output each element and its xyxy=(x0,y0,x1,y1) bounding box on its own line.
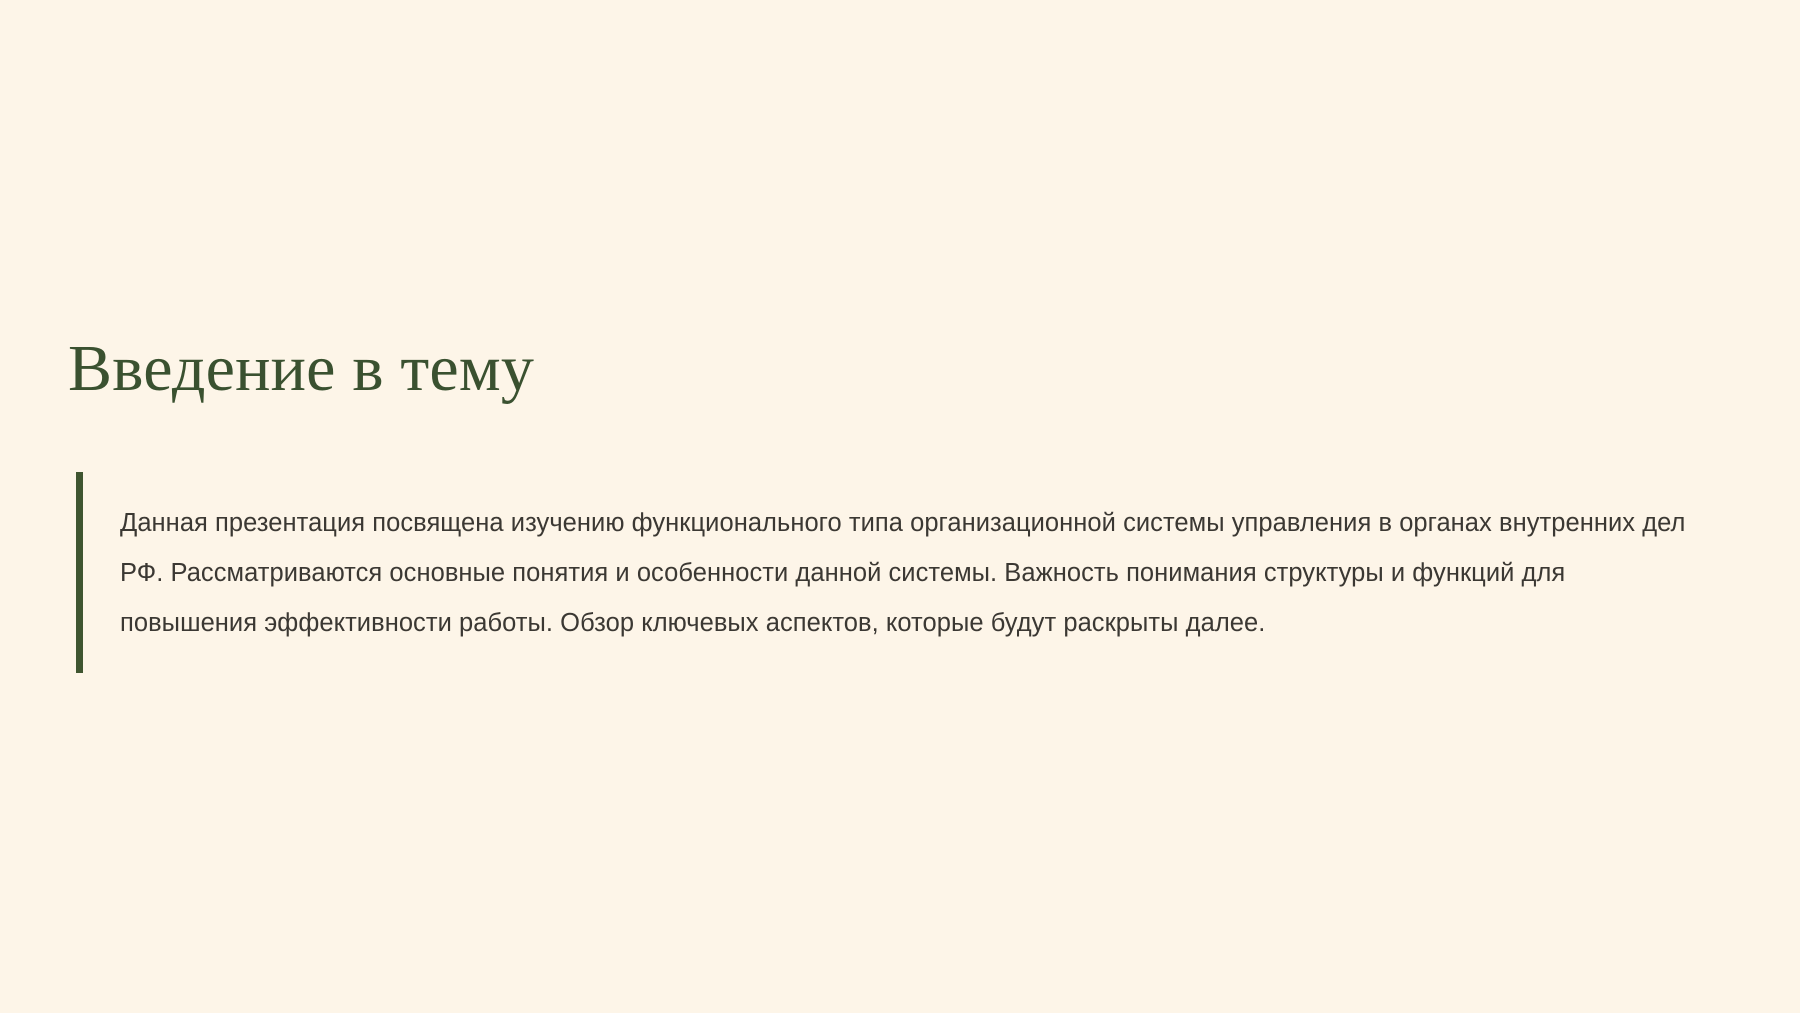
page-title: Введение в тему xyxy=(68,332,534,406)
body-callout: Данная презентация посвящена изучению фу… xyxy=(76,472,1716,673)
presentation-slide: Введение в тему Данная презентация посвя… xyxy=(0,0,1800,1013)
body-paragraph: Данная презентация посвящена изучению фу… xyxy=(120,498,1690,648)
accent-bar xyxy=(76,472,83,673)
